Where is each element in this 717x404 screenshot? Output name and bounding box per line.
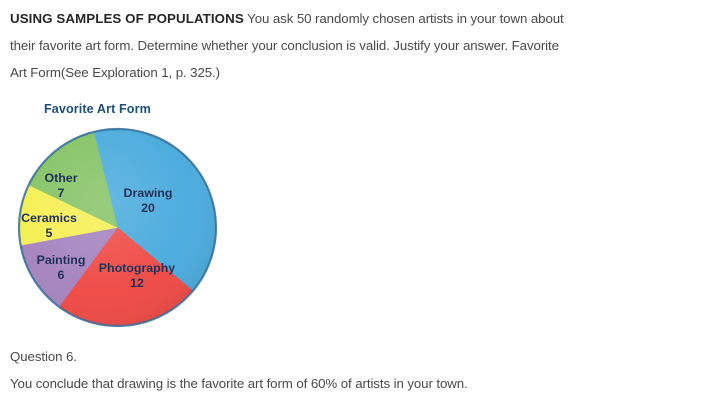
prompt-line-1: USING SAMPLES OF POPULATIONS You ask 50 … [10,5,717,32]
question-statement: You conclude that drawing is the favorit… [10,370,710,397]
pie-svg [17,127,218,328]
question-number: Question 6. [10,343,710,370]
chart-title: Favorite Art Form [44,102,151,116]
exercise-prompt: USING SAMPLES OF POPULATIONS You ask 50 … [10,5,717,86]
question-block: Question 6. You conclude that drawing is… [10,343,710,397]
page-root: USING SAMPLES OF POPULATIONS You ask 50 … [0,0,717,404]
prompt-line-1-text: You ask 50 randomly chosen artists in yo… [244,11,564,26]
favorite-art-form-chart: Favorite Art Form Drawing 20 Photo [0,98,240,338]
pie-chart-graphic [17,127,218,328]
prompt-line-3: Art Form(See Exploration 1, p. 325.) [10,59,717,86]
prompt-section-label: USING SAMPLES OF POPULATIONS [10,11,244,26]
prompt-line-2: their favorite art form. Determine wheth… [10,32,717,59]
